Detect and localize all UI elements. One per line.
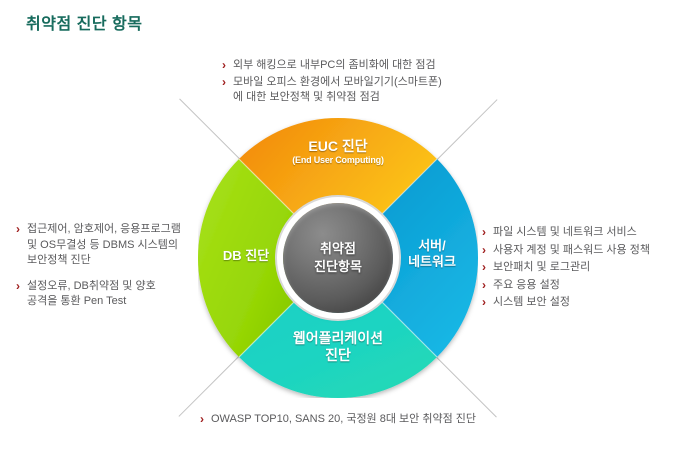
page-title: 취약점 진단 항목 — [26, 10, 142, 34]
note-item: OWASP TOP10, SANS 20, 국정원 8대 보안 취약점 진단 — [200, 412, 500, 428]
center-hub-line1: 취약점 — [320, 241, 356, 256]
note-block-euc: 외부 해킹으로 내부PC의 좀비화에 대한 점검 모바일 오피스 환경에서 모바… — [222, 58, 482, 107]
note-item: 접근제어, 암호제어, 응용프로그램 및 OS무결성 등 DBMS 시스템의 보… — [16, 222, 194, 269]
note-item: 사용자 계정 및 패스워드 사용 정책 — [482, 242, 674, 259]
note-item: 설정오류, DB취약점 및 양호 공격을 통환 Pen Test — [16, 279, 194, 310]
center-hub[interactable]: 취약점 진단항목 — [283, 203, 393, 313]
note-block-web-application: OWASP TOP10, SANS 20, 국정원 8대 보안 취약점 진단 — [200, 412, 500, 429]
note-item: 외부 해킹으로 내부PC의 좀비화에 대한 점검 — [222, 58, 482, 74]
note-item: 파일 시스템 및 네트워크 서비스 — [482, 224, 674, 241]
note-block-server-network: 파일 시스템 및 네트워크 서비스 사용자 계정 및 패스워드 사용 정책 보안… — [482, 224, 674, 312]
note-item: 주요 응용 설정 — [482, 277, 674, 294]
center-hub-text: 취약점 진단항목 — [314, 240, 362, 276]
center-hub-line2: 진단항목 — [314, 259, 362, 274]
vulnerability-donut-diagram: EUC 진단 (End User Computing) DB 진단 서버/ 네트… — [198, 118, 478, 398]
note-block-db: 접근제어, 암호제어, 응용프로그램 및 OS무결성 등 DBMS 시스템의 보… — [16, 222, 194, 311]
note-item: 보안패치 및 로그관리 — [482, 259, 674, 276]
note-item: 시스템 보안 설정 — [482, 294, 674, 311]
note-item: 모바일 오피스 환경에서 모바일기기(스마트폰) 에 대한 보안정책 및 취약점… — [222, 75, 482, 106]
